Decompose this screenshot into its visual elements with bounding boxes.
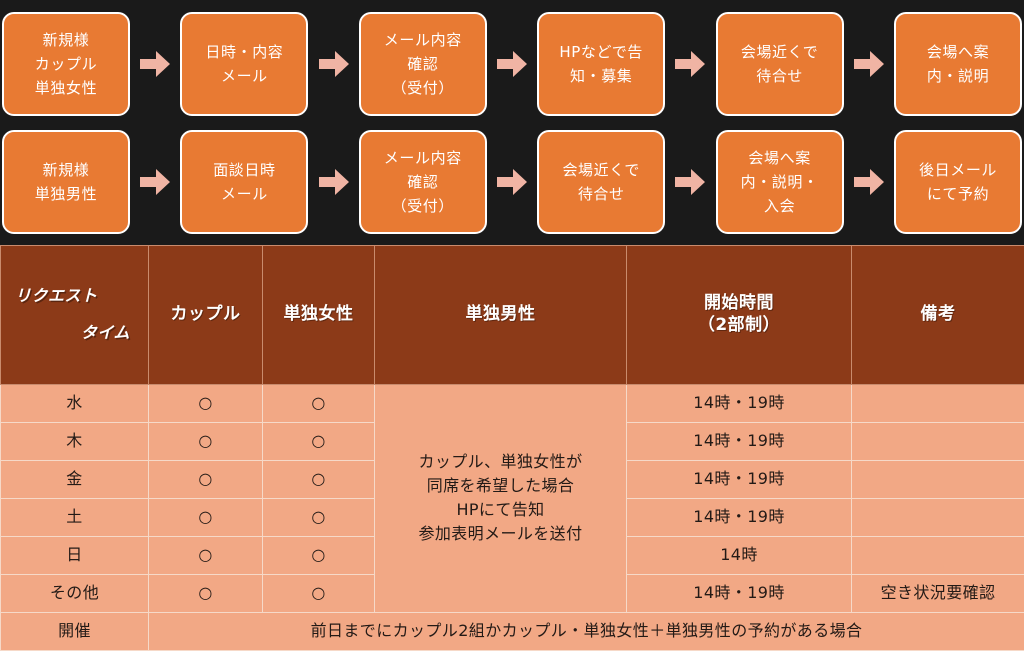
flow-arrow-r1-a5 xyxy=(844,47,894,81)
header-start-time: 開始時間 （2部制） xyxy=(627,246,852,385)
header-single-female: 単独女性 xyxy=(263,246,375,385)
cell-day: 土 xyxy=(1,498,149,536)
cell-couple: ○ xyxy=(149,498,263,536)
header-request-time: リクエスト タイム xyxy=(1,246,149,385)
flow-arrow-r1-a4 xyxy=(665,47,715,81)
cell-start-time: 14時・19時 xyxy=(627,422,852,460)
cell-couple: ○ xyxy=(149,422,263,460)
cell-single-male-note: カップル、単独女性が 同席を希望した場合 HPにて告知 参加表明メールを送付 xyxy=(375,384,627,612)
cell-day: 金 xyxy=(1,460,149,498)
cell-remarks xyxy=(852,460,1024,498)
flow-row-couple-single-female: 新規様 カップル 単独女性 日時・内容 メール メール内容 確認 （受付） HP… xyxy=(0,8,1024,120)
table-footer-row: 開催 前日までにカップル2組かカップル・単独女性＋単独男性の予約がある場合 xyxy=(1,612,1024,650)
cell-couple: ○ xyxy=(149,460,263,498)
cell-couple: ○ xyxy=(149,574,263,612)
cell-day: 木 xyxy=(1,422,149,460)
cell-single-female: ○ xyxy=(263,460,375,498)
flow-node-r1-c4[interactable]: HPなどで告 知・募集 xyxy=(537,12,665,116)
cell-remarks xyxy=(852,422,1024,460)
cell-start-time: 14時・19時 xyxy=(627,498,852,536)
header-single-male: 単独男性 xyxy=(375,246,627,385)
flow-node-r2-c5[interactable]: 会場へ案 内・説明・ 入会 xyxy=(716,130,844,234)
cell-day: 日 xyxy=(1,536,149,574)
flow-node-r2-c2[interactable]: 面談日時 メール xyxy=(180,130,308,234)
table-row: 水 ○ ○ カップル、単独女性が 同席を希望した場合 HPにて告知 参加表明メー… xyxy=(1,384,1024,422)
cell-couple: ○ xyxy=(149,384,263,422)
flow-node-r1-c5[interactable]: 会場近くで 待合せ xyxy=(716,12,844,116)
flow-arrow-r2-a3 xyxy=(487,165,537,199)
flow-node-r1-c1[interactable]: 新規様 カップル 単独女性 xyxy=(2,12,130,116)
flow-arrow-r1-a1 xyxy=(130,47,180,81)
flow-arrow-r2-a5 xyxy=(844,165,894,199)
cell-couple: ○ xyxy=(149,536,263,574)
request-time-line1: リクエスト xyxy=(1,287,148,306)
cell-footer-note: 前日までにカップル2組かカップル・単独女性＋単独男性の予約がある場合 xyxy=(149,612,1024,650)
flow-arrow-r2-a4 xyxy=(665,165,715,199)
flow-node-r1-c6[interactable]: 会場へ案 内・説明 xyxy=(894,12,1022,116)
schedule-table: リクエスト タイム カップル 単独女性 単独男性 開始時間 （2部制） 備考 水… xyxy=(0,245,1024,651)
flow-node-r2-c1[interactable]: 新規様 単独男性 xyxy=(2,130,130,234)
cell-single-female: ○ xyxy=(263,422,375,460)
table-header-row: リクエスト タイム カップル 単独女性 単独男性 開始時間 （2部制） 備考 xyxy=(1,246,1024,385)
cell-start-time: 14時・19時 xyxy=(627,574,852,612)
flow-node-r2-c4[interactable]: 会場近くで 待合せ xyxy=(537,130,665,234)
schedule-table-wrapper: リクエスト タイム カップル 単独女性 単独男性 開始時間 （2部制） 備考 水… xyxy=(0,245,1024,576)
cell-single-female: ○ xyxy=(263,498,375,536)
cell-start-time: 14時 xyxy=(627,536,852,574)
header-couple: カップル xyxy=(149,246,263,385)
request-time-text: リクエスト タイム xyxy=(1,268,148,362)
cell-footer-label: 開催 xyxy=(1,612,149,650)
request-time-line2: タイム xyxy=(1,324,148,343)
cell-start-time: 14時・19時 xyxy=(627,384,852,422)
cell-day: 水 xyxy=(1,384,149,422)
flow-row-single-male: 新規様 単独男性 面談日時 メール メール内容 確認 （受付） 会場近くで 待合… xyxy=(0,126,1024,238)
flow-arrow-r1-a2 xyxy=(308,47,358,81)
flow-arrow-r2-a1 xyxy=(130,165,180,199)
cell-remarks xyxy=(852,498,1024,536)
cell-remarks xyxy=(852,384,1024,422)
flow-node-r1-c3[interactable]: メール内容 確認 （受付） xyxy=(359,12,487,116)
flow-node-r1-c2[interactable]: 日時・内容 メール xyxy=(180,12,308,116)
header-remarks: 備考 xyxy=(852,246,1024,385)
process-flowchart: 新規様 カップル 単独女性 日時・内容 メール メール内容 確認 （受付） HP… xyxy=(0,0,1024,240)
cell-single-female: ○ xyxy=(263,574,375,612)
cell-single-female: ○ xyxy=(263,384,375,422)
flow-node-r2-c3[interactable]: メール内容 確認 （受付） xyxy=(359,130,487,234)
cell-start-time: 14時・19時 xyxy=(627,460,852,498)
cell-single-female: ○ xyxy=(263,536,375,574)
cell-remarks xyxy=(852,536,1024,574)
flow-arrow-r2-a2 xyxy=(308,165,358,199)
cell-remarks: 空き状況要確認 xyxy=(852,574,1024,612)
flow-arrow-r1-a3 xyxy=(487,47,537,81)
slide-root: 新規様 カップル 単独女性 日時・内容 メール メール内容 確認 （受付） HP… xyxy=(0,0,1024,576)
cell-day: その他 xyxy=(1,574,149,612)
flow-node-r2-c6[interactable]: 後日メール にて予約 xyxy=(894,130,1022,234)
